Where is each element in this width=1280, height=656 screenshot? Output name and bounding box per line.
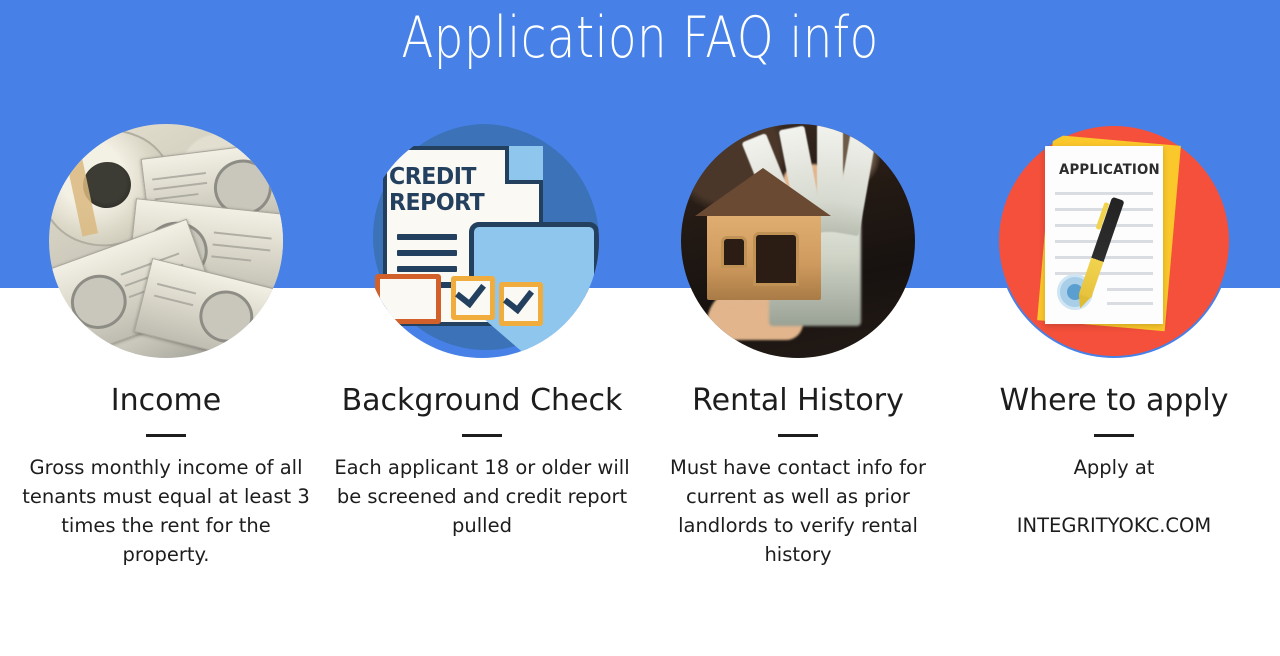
infographic-canvas: Application FAQ info (0, 0, 1280, 656)
apply-website-url: INTEGRITYOKC.COM (1017, 511, 1211, 540)
where-to-apply-circle-image: APPLICATION (997, 124, 1231, 358)
column-heading-income: Income (111, 382, 221, 420)
column-heading-rental-history: Rental History (692, 382, 904, 420)
income-circle-image (49, 124, 283, 358)
rental-history-circle-image (681, 124, 915, 358)
faq-column-rental-history: Rental History Must have contact info fo… (650, 0, 946, 569)
rolled-dollar-bills-photo (49, 124, 283, 358)
column-heading-background-check: Background Check (342, 382, 623, 420)
column-body-rental-history: Must have contact info for current as we… (653, 453, 943, 569)
credit-report-artwork-text: CREDIT REPORT (389, 164, 484, 216)
house-roof (695, 168, 831, 216)
application-artwork-text: APPLICATION (1059, 162, 1160, 178)
column-body-background-check: Each applicant 18 or older will be scree… (334, 453, 630, 540)
heading-divider (462, 434, 502, 437)
rental-application-form-illustration: APPLICATION (997, 124, 1231, 358)
orange-card-icon (375, 274, 441, 324)
column-heading-where-to-apply: Where to apply (999, 382, 1228, 420)
heading-divider (778, 434, 818, 437)
background-check-circle-image: CREDIT REPORT (365, 124, 599, 358)
faq-column-where-to-apply: APPLICATION Where to apply (966, 0, 1262, 540)
faq-column-background-check: CREDIT REPORT (334, 0, 630, 540)
column-body-income: Gross monthly income of all tenants must… (21, 453, 311, 569)
columns-container: Income Gross monthly income of all tenan… (0, 0, 1280, 656)
faq-column-income: Income Gross monthly income of all tenan… (18, 0, 314, 569)
apply-at-label: Apply at (1017, 453, 1211, 482)
page-fold-corner (505, 146, 543, 184)
checkbox-checked-2 (499, 282, 543, 326)
credit-report-text-line2: REPORT (389, 190, 484, 216)
hand-holding-house-and-cash-photo (681, 124, 915, 358)
checkbox-checked-1 (451, 276, 495, 320)
heading-divider (1094, 434, 1134, 437)
spacer (1017, 482, 1211, 511)
column-body-where-to-apply: Apply at INTEGRITYOKC.COM (1017, 453, 1211, 540)
credit-report-text-line1: CREDIT (389, 164, 484, 190)
heading-divider (146, 434, 186, 437)
credit-report-illustration: CREDIT REPORT (365, 124, 599, 358)
